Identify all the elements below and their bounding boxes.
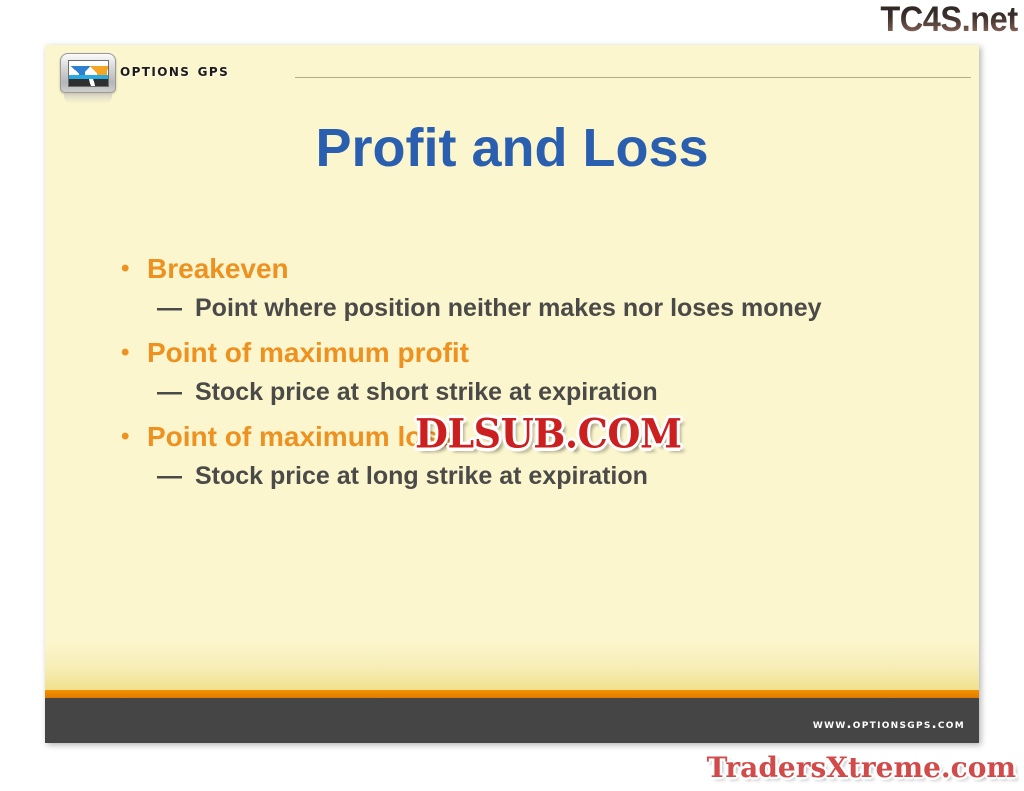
footer-orange-bar [45,690,979,698]
dlsub-watermark: DLSUB.COM [415,413,682,455]
sub-bullet-label: Stock price at long strike at expiration [195,462,648,490]
bullet-label: Breakeven [147,253,289,284]
options-gps-brand-label: Options GPS [120,61,229,81]
tc4s-brand-overlay: TC4S.net [881,1,1018,39]
sub-bullet-item: — Point where position neither makes nor… [117,290,949,326]
bullet-dot-icon: • [121,334,129,372]
bullet-group-0: • Breakeven — Point where position neith… [117,250,949,326]
bullet-dot-icon: • [121,250,129,288]
sub-bullet-label: Stock price at short strike at expiratio… [195,378,658,406]
gps-device-icon [60,53,116,97]
tradersxtreme-brand-overlay: TradersXtreme.com [707,751,1016,785]
footer-bar: www.OptionsGPS.com [45,698,979,743]
bullet-dot-icon: • [121,418,129,456]
bullet-label: Point of maximum loss [147,421,454,452]
bullet-item-max-profit: • Point of maximum profit [117,334,949,372]
bullet-item-breakeven: • Breakeven [117,250,949,288]
em-dash-icon: — [157,290,187,326]
em-dash-icon: — [157,374,187,410]
sub-bullet-item: — Stock price at long strike at expirati… [117,458,949,494]
footer-gradient [45,640,979,690]
sub-bullet-label: Point where position neither makes nor l… [195,294,822,322]
sub-bullet-item: — Stock price at short strike at expirat… [117,374,949,410]
bullet-group-1: • Point of maximum profit — Stock price … [117,334,949,410]
header-divider [295,77,971,78]
slide-header: Options GPS [45,45,979,107]
bullet-list: • Breakeven — Point where position neith… [117,250,949,502]
bullet-label: Point of maximum profit [147,337,469,368]
presentation-slide: Options GPS Profit and Loss • Breakeven … [45,45,979,743]
page-title: Profit and Loss [45,117,979,179]
em-dash-icon: — [157,458,187,494]
footer-website-label: www.OptionsGPS.com [813,717,965,732]
